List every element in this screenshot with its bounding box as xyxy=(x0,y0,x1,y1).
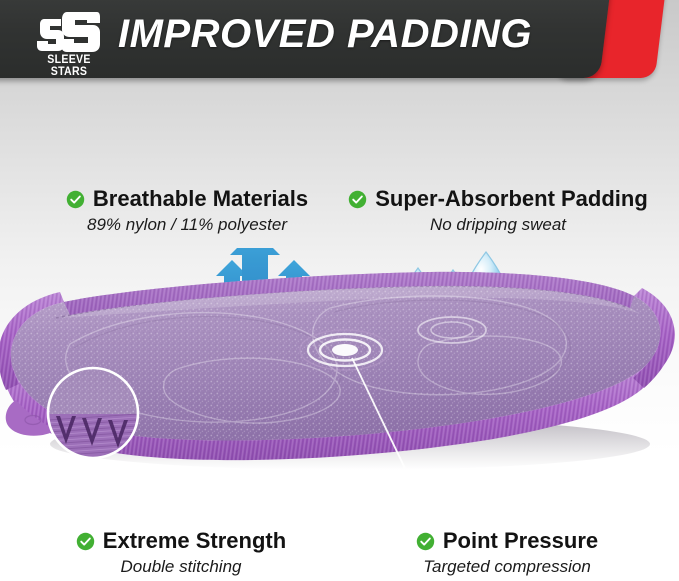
feature-subtitle: 89% nylon / 11% polyester xyxy=(52,214,322,236)
ss-monogram-icon xyxy=(26,11,112,53)
feature-subtitle: Double stitching xyxy=(56,556,306,578)
green-check-icon xyxy=(348,190,367,209)
infographic-page: SLEEVE STARS IMPROVED PADDING xyxy=(0,0,679,581)
product-image xyxy=(0,248,679,513)
feature-super-absorbent-padding: Super-Absorbent Padding No dripping swea… xyxy=(338,186,658,236)
feature-title: Super-Absorbent Padding xyxy=(375,186,648,212)
header-banner: SLEEVE STARS IMPROVED PADDING xyxy=(0,0,679,84)
feature-title: Extreme Strength xyxy=(103,528,286,554)
feature-breathable-materials: Breathable Materials 89% nylon / 11% pol… xyxy=(52,186,322,236)
feature-subtitle: Targeted compression xyxy=(392,556,622,578)
stitching-magnifier xyxy=(48,368,138,460)
feature-extreme-strength: Extreme Strength Double stitching xyxy=(56,528,306,578)
feature-subtitle: No dripping sweat xyxy=(338,214,658,236)
green-check-icon xyxy=(66,190,85,209)
feature-title: Breathable Materials xyxy=(93,186,308,212)
brand-logo: SLEEVE STARS xyxy=(26,11,112,73)
green-check-icon xyxy=(416,532,435,551)
green-check-icon xyxy=(76,532,95,551)
brand-name: SLEEVE STARS xyxy=(29,54,108,78)
feature-point-pressure: Point Pressure Targeted compression xyxy=(392,528,622,578)
feature-title: Point Pressure xyxy=(443,528,598,554)
page-title: IMPROVED PADDING xyxy=(118,12,532,57)
